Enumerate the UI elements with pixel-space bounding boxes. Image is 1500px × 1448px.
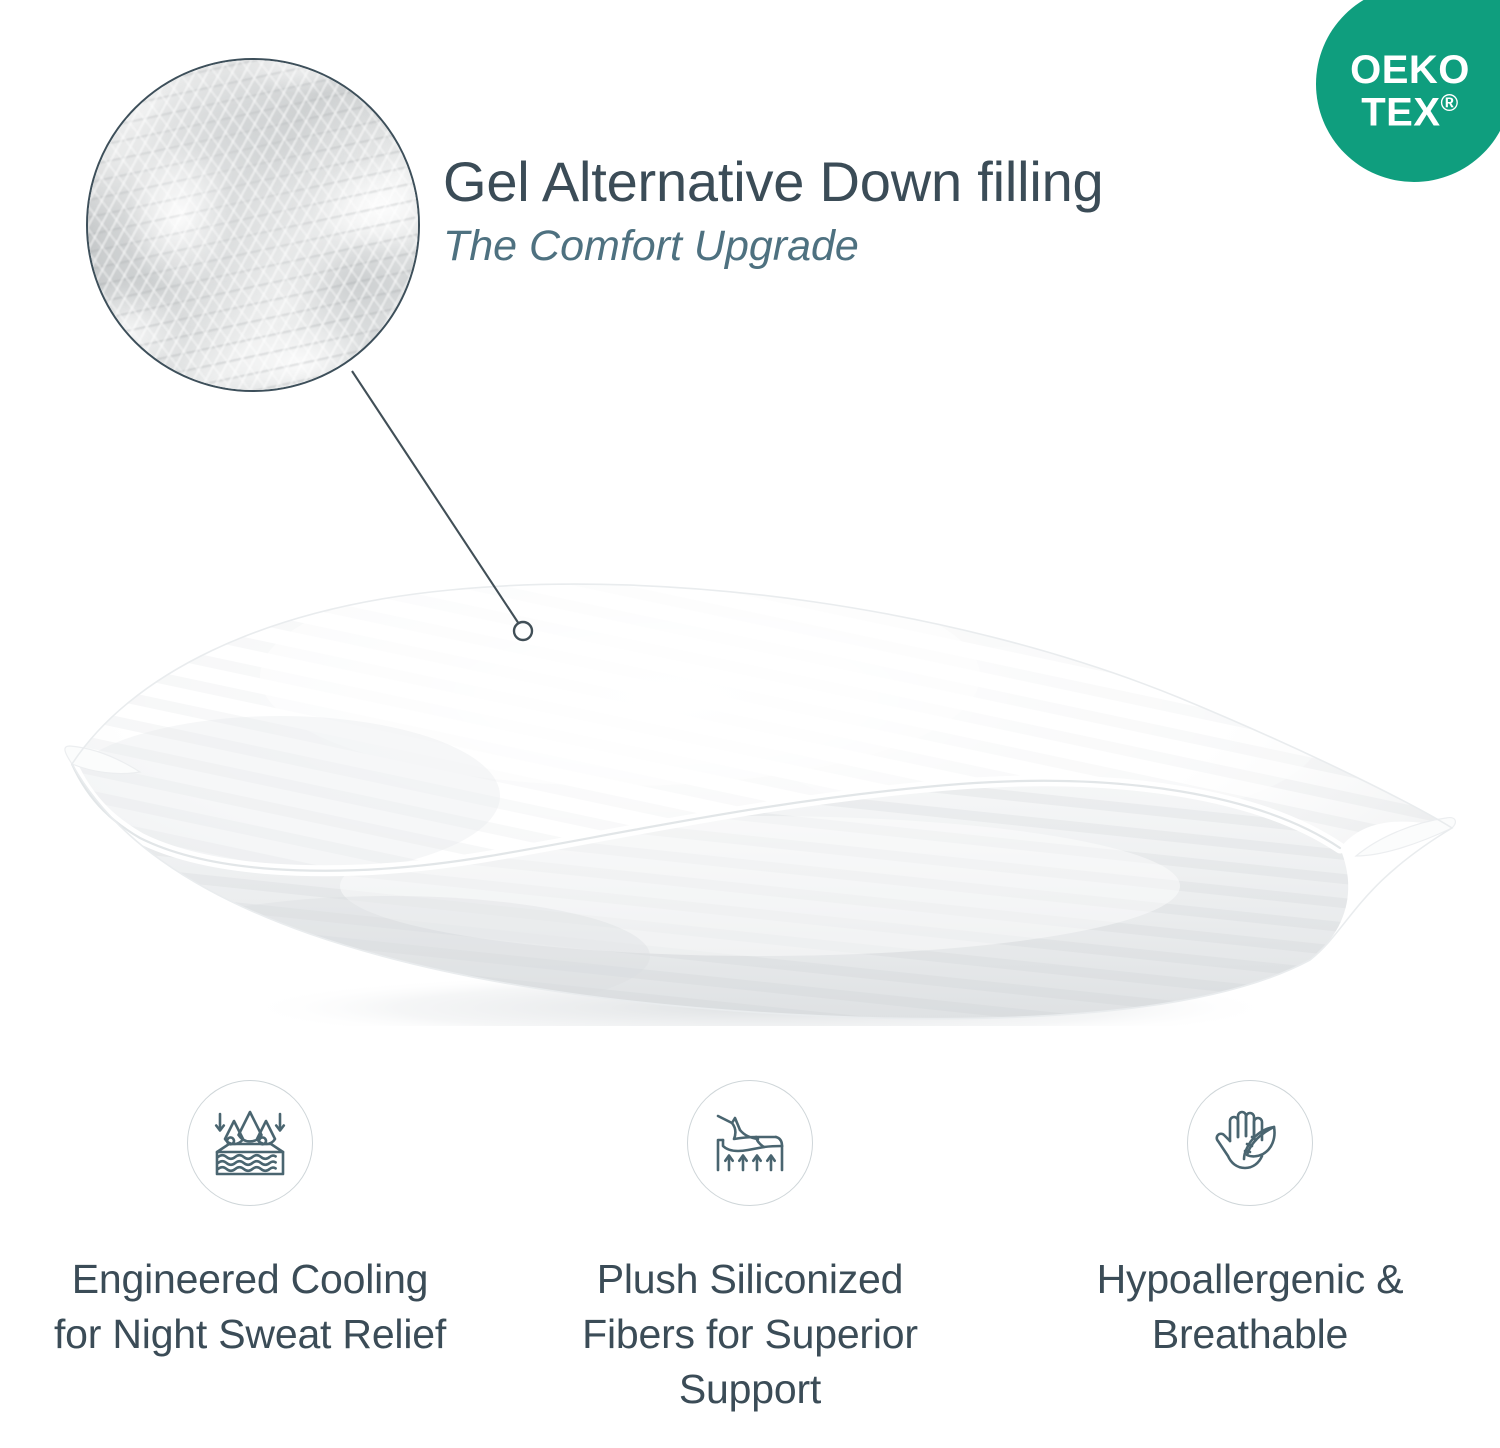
- fiber-vignette: [88, 60, 418, 390]
- feature-icon-circle: [1187, 1080, 1313, 1206]
- feature-label-support: Plush Siliconized Fibers for Superior Su…: [535, 1252, 965, 1417]
- feature-list: Engineered Cooling for Night Sweat Relie…: [0, 1080, 1500, 1448]
- hand-feather-hypoallergenic-icon: [1212, 1107, 1288, 1179]
- feature-item-cooling: Engineered Cooling for Night Sweat Relie…: [0, 1080, 500, 1448]
- badge-tex-text: TEX: [1361, 91, 1440, 135]
- oeko-tex-certification-badge: OEKO TEX®: [1316, 0, 1500, 182]
- registered-trademark-icon: ®: [1441, 90, 1459, 117]
- headline-block: Gel Alternative Down filling The Comfort…: [443, 152, 1323, 270]
- page-title: Gel Alternative Down filling: [443, 152, 1323, 211]
- product-image-pillow: [60, 556, 1460, 1026]
- pillow-illustration: [60, 556, 1460, 1026]
- water-drops-cooling-icon: [211, 1108, 289, 1178]
- badge-line-tex: TEX®: [1361, 92, 1458, 133]
- badge-line-oeko: OEKO: [1350, 51, 1470, 90]
- fiber-fill-closeup: [86, 58, 420, 392]
- feature-label-cooling: Engineered Cooling for Night Sweat Relie…: [50, 1252, 450, 1362]
- page-subtitle: The Comfort Upgrade: [443, 223, 1323, 269]
- infographic-canvas: OEKO TEX® Gel Alternative Down filling T…: [0, 0, 1500, 1448]
- feature-label-hypoallergenic: Hypoallergenic & Breathable: [1040, 1252, 1460, 1362]
- feature-item-support: Plush Siliconized Fibers for Superior Su…: [500, 1080, 1000, 1448]
- feature-icon-circle: [687, 1080, 813, 1206]
- feature-item-hypoallergenic: Hypoallergenic & Breathable: [1000, 1080, 1500, 1448]
- person-on-pillow-support-icon: [710, 1108, 790, 1178]
- feature-icon-circle: [187, 1080, 313, 1206]
